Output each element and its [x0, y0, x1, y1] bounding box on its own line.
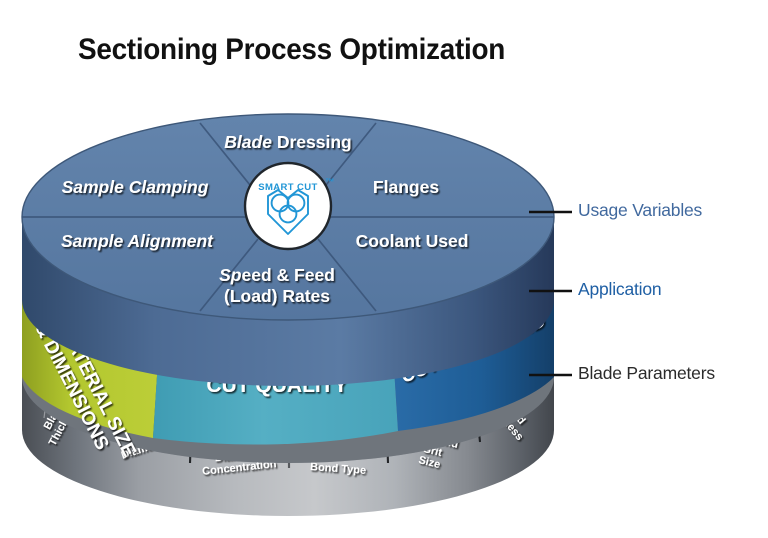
- top-label-flanges[interactable]: Flanges: [373, 177, 439, 197]
- sectioning-process-cylinder-diagram: Blade Thickness Blade Diameter Diamond C…: [0, 0, 768, 538]
- callout-label-usage-variables[interactable]: Usage Variables: [578, 200, 702, 221]
- top-label-part: Sp: [219, 265, 242, 285]
- top-label-speed-feed[interactable]: Speed & Feed (Load) Rates: [219, 265, 335, 306]
- top-label-part: eed & Feed: [242, 265, 335, 285]
- top-label-sample-clamping[interactable]: Sample Clamping: [62, 177, 209, 197]
- callout-label-blade-parameters[interactable]: Blade Parameters: [578, 363, 715, 384]
- top-label-sample-alignment[interactable]: Sample Alignment: [61, 231, 214, 251]
- layer-usage-variables[interactable]: SMART CUT ™ Blade Dressing Sample Clampi…: [22, 114, 554, 386]
- diagram-canvas: Sectioning Process Optimization: [0, 0, 768, 538]
- top-label-part: Blade: [224, 132, 272, 152]
- top-label-line2: (Load) Rates: [224, 286, 330, 306]
- callout-label-application[interactable]: Application: [578, 279, 661, 300]
- logo-trademark: ™: [325, 177, 335, 188]
- top-label-part: Dressing: [272, 132, 352, 152]
- logo-brand-text: SMART CUT: [258, 182, 318, 193]
- top-label-blade-dressing[interactable]: Blade Dressing: [224, 132, 351, 152]
- top-label-line1: Speed & Feed: [219, 265, 335, 285]
- top-label-coolant-used[interactable]: Coolant Used: [356, 231, 469, 251]
